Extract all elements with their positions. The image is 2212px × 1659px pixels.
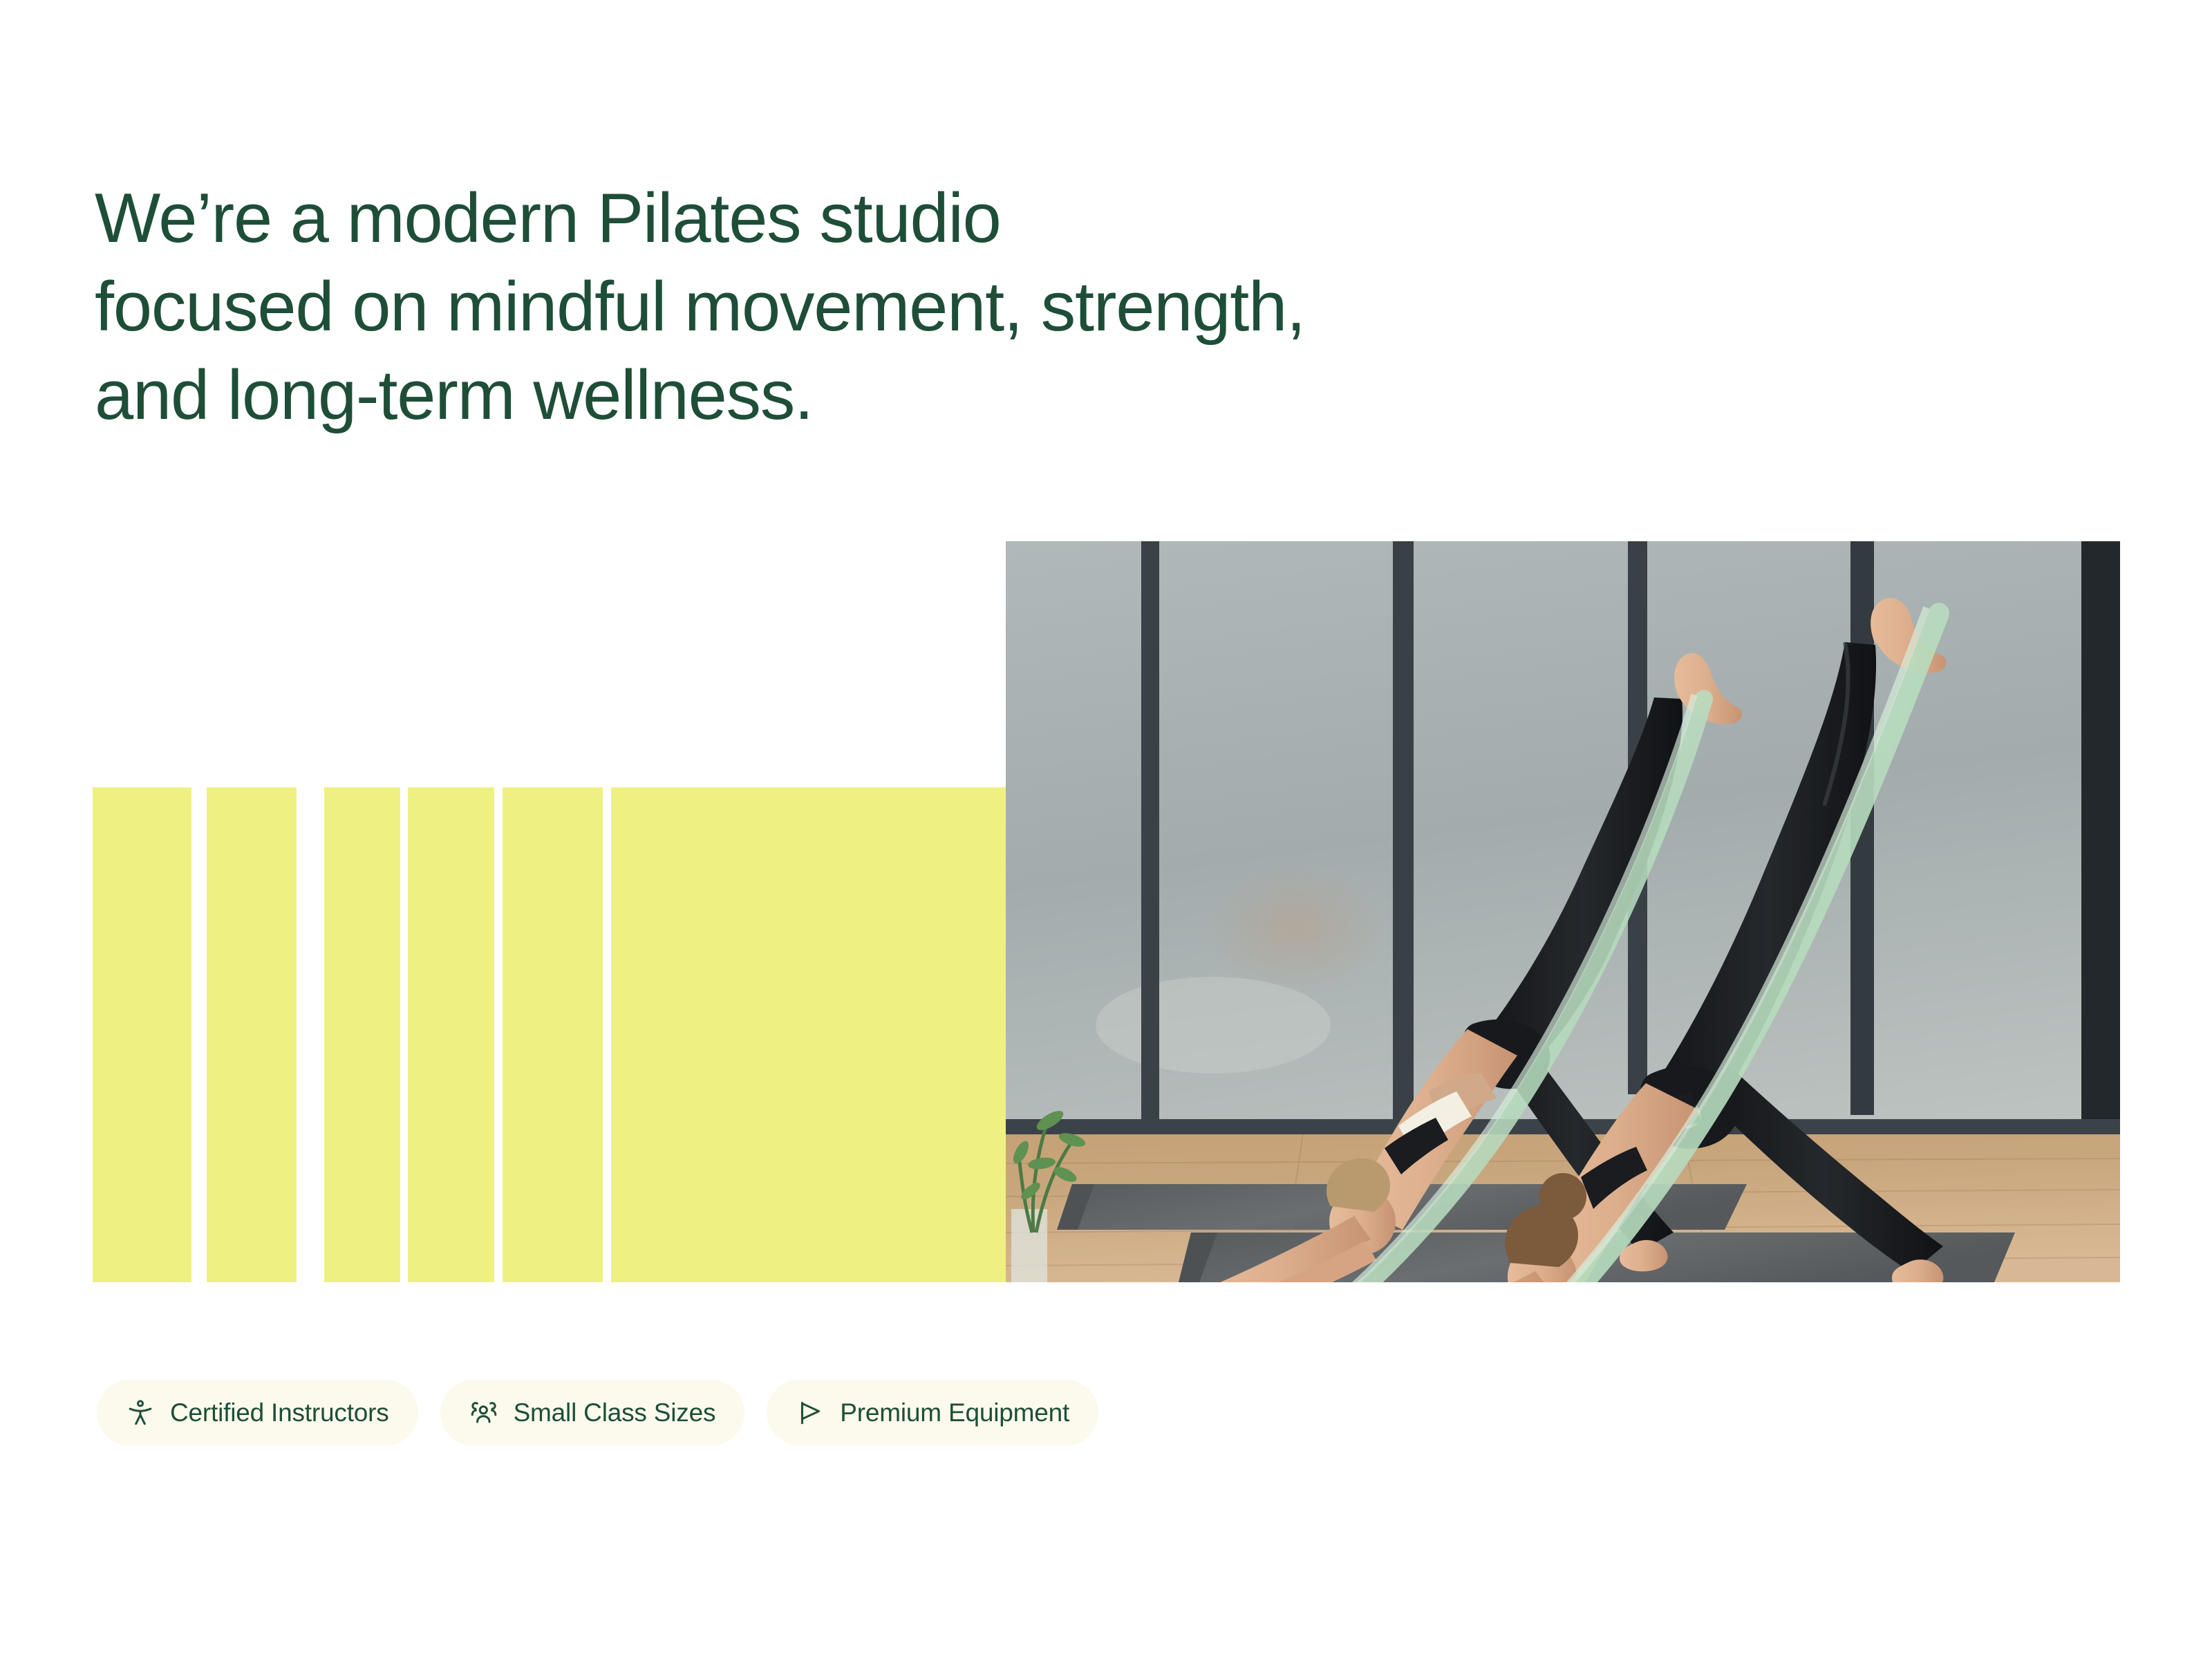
- decorative-bar: [611, 787, 1009, 1282]
- feature-pill-small-class-sizes[interactable]: Small Class Sizes: [440, 1380, 745, 1445]
- feature-pill-label: Premium Equipment: [840, 1398, 1069, 1427]
- feature-pill-label: Small Class Sizes: [514, 1398, 716, 1427]
- slide-canvas: We’re a modern Pilates studio focused on…: [0, 0, 2212, 1659]
- decorative-bar: [503, 787, 603, 1282]
- feature-pill-premium-equipment[interactable]: Premium Equipment: [767, 1380, 1098, 1445]
- feature-pill-certified-instructors[interactable]: Certified Instructors: [97, 1380, 418, 1445]
- flag-pennant-icon: [796, 1398, 825, 1427]
- feature-pill-label: Certified Instructors: [170, 1398, 389, 1427]
- decorative-bar-band: [93, 787, 1009, 1282]
- studio-photo: [1006, 541, 2120, 1282]
- page-title: We’re a modern Pilates studio focused on…: [95, 174, 1546, 440]
- decorative-bar: [324, 787, 400, 1282]
- decorative-bar: [207, 787, 297, 1282]
- decorative-bar: [93, 787, 191, 1282]
- decorative-bar: [408, 787, 494, 1282]
- users-group-icon: [469, 1398, 498, 1427]
- feature-pill-list: Certified Instructors Small Class Sizes: [97, 1380, 1098, 1445]
- accessibility-person-icon: [126, 1398, 155, 1427]
